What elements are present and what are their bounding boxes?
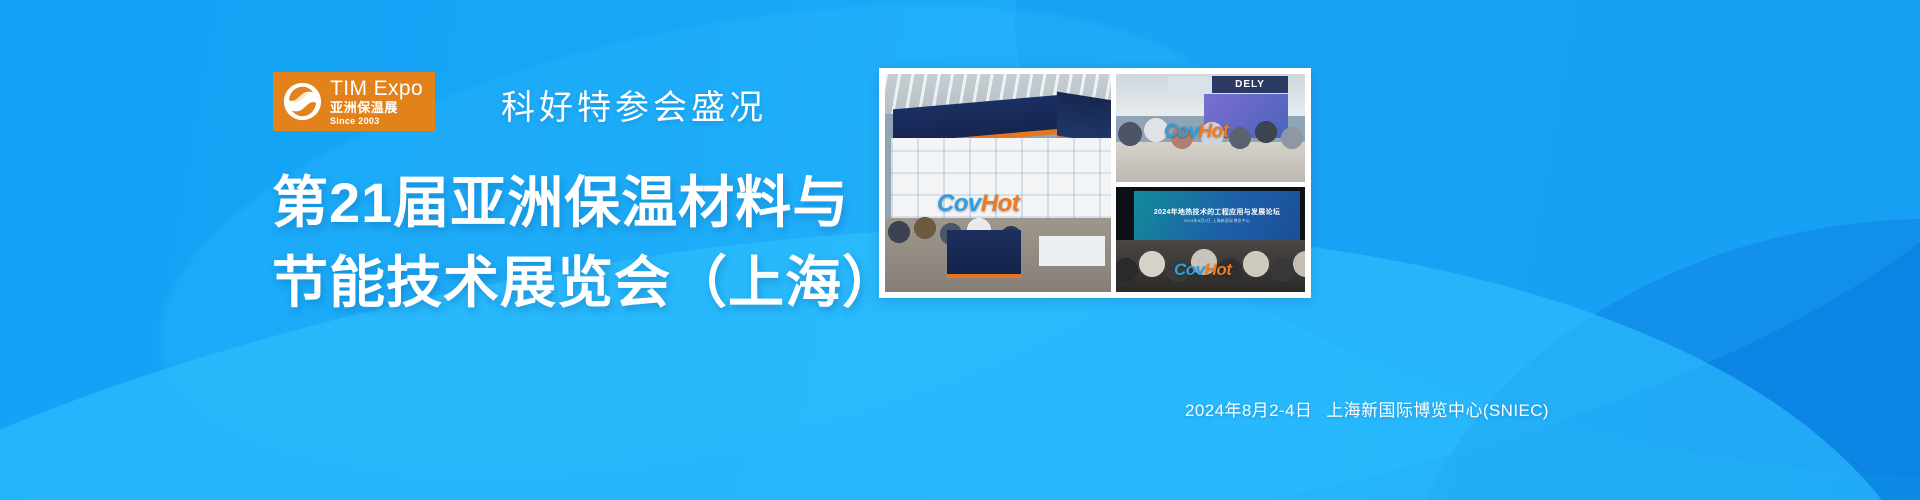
tim-expo-logo[interactable]: TIM Expo 亚洲保温展 Since 2003 xyxy=(273,72,435,131)
watermark-cov: Cov xyxy=(1164,121,1198,142)
watermark-cov: Cov xyxy=(937,190,981,217)
booth-reception-counter xyxy=(947,230,1021,278)
collage-right-column: DELY CovHot 2024年地热技术的工程应用与发展论坛 2024年8月2… xyxy=(1116,74,1305,292)
dely-booth-sign: DELY xyxy=(1212,76,1288,93)
expo-banner: TIM Expo 亚洲保温展 Since 2003 科好特参会盛况 第21届亚洲… xyxy=(0,0,1920,500)
watermark-covhot: CovHot xyxy=(1164,122,1229,141)
watermark-cov: Cov xyxy=(1174,260,1205,279)
visitors-crowd-photo: DELY CovHot xyxy=(1116,74,1305,182)
watermark-covhot: CovHot xyxy=(937,192,1019,216)
subtitle: 科好特参会盛况 xyxy=(501,80,767,129)
logo-english-name: TIM Expo xyxy=(330,78,423,99)
watermark-hot: Hot xyxy=(1205,260,1232,279)
forum-screen-subtitle: 2024年8月2日 上海新国际博览中心 xyxy=(1134,218,1300,224)
watermark-covhot: CovHot xyxy=(1174,261,1231,278)
title-line-2: 节能技术展览会（上海） xyxy=(272,243,899,323)
logo-since-label: Since 2003 xyxy=(330,117,423,126)
forum-conference-photo: 2024年地热技术的工程应用与发展论坛 2024年8月2日 上海新国际博览中心 … xyxy=(1116,187,1305,292)
logo-text-block: TIM Expo 亚洲保温展 Since 2003 xyxy=(330,78,423,126)
logo-chinese-name: 亚洲保温展 xyxy=(330,101,423,114)
watermark-hot: Hot xyxy=(1198,121,1228,142)
tim-expo-swirl-icon xyxy=(282,81,323,122)
event-venue: 上海新国际博览中心(SNIEC) xyxy=(1326,401,1549,420)
booth-display-table xyxy=(1039,236,1105,266)
title-line-1: 第21届亚洲保温材料与 xyxy=(272,163,899,243)
watermark-hot: Hot xyxy=(981,190,1019,217)
event-date-venue: 2024年8月2-4日上海新国际博览中心(SNIEC) xyxy=(1185,396,1549,421)
forum-screen-title: 2024年地热技术的工程应用与发展论坛 xyxy=(1134,207,1300,217)
background-swoosh-dark-bottom-right xyxy=(1338,129,1920,500)
forum-projection-screen: 2024年地热技术的工程应用与发展论坛 2024年8月2日 上海新国际博览中心 xyxy=(1134,191,1300,247)
page-title: 第21届亚洲保温材料与 节能技术展览会（上海） xyxy=(272,163,899,323)
event-date: 2024年8月2-4日 xyxy=(1185,401,1312,420)
photo-collage: CovHot DELY CovHot 2024年地热技术的工程应用与发展论坛 2… xyxy=(879,68,1311,298)
exhibition-booth-photo: CovHot xyxy=(885,74,1111,292)
